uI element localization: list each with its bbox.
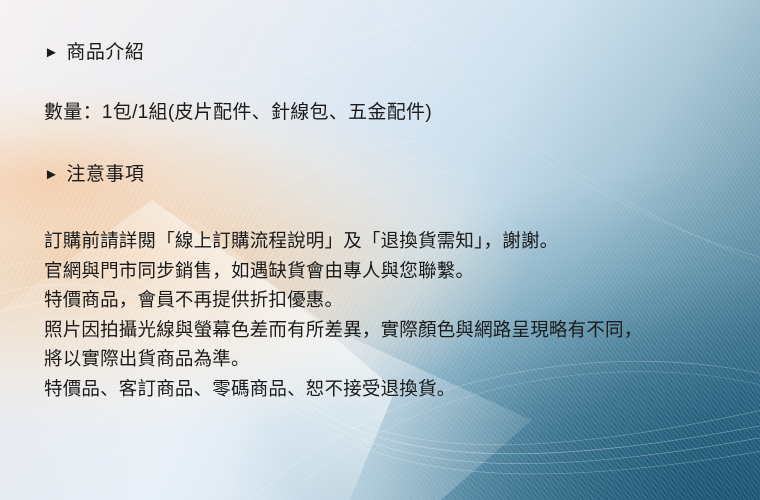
product-quantity-spec: 數量：1包/1組(皮片配件、針線包、五金配件) [44,102,746,125]
product-description-banner: ►商品介紹 數量：1包/1組(皮片配件、針線包、五金配件) ►注意事項 訂購前請… [0,0,760,500]
product-intro-heading: ►商品介紹 [44,42,746,65]
triangle-right-icon: ► [44,166,59,184]
description-content: ►商品介紹 數量：1包/1組(皮片配件、針線包、五金配件) ►注意事項 訂購前請… [44,42,746,403]
notice-line: 訂購前請詳閱「線上訂購流程說明」及「退換貨需知」，謝謝。 [44,226,746,256]
notice-line: 將以實際出貨商品為準。 [44,344,746,374]
notice-line: 特價商品，會員不再提供折扣優惠。 [44,285,746,315]
notice-line: 官網與門市同步銷售，如遇缺貨會由專人與您聯繫。 [44,256,746,286]
product-intro-heading-label: 商品介紹 [66,42,144,63]
notice-line: 照片因拍攝光線與螢幕色差而有所差異，實際顏色與網路呈現略有不同， [44,315,746,345]
notice-list: 訂購前請詳閱「線上訂購流程說明」及「退換貨需知」，謝謝。 官網與門市同步銷售，如… [44,226,746,403]
triangle-right-icon: ► [44,44,59,62]
notice-line: 特價品、客訂商品、零碼商品、恕不接受退換貨。 [44,374,746,404]
notice-heading: ►注意事項 [44,164,746,187]
notice-heading-label: 注意事項 [66,164,144,185]
